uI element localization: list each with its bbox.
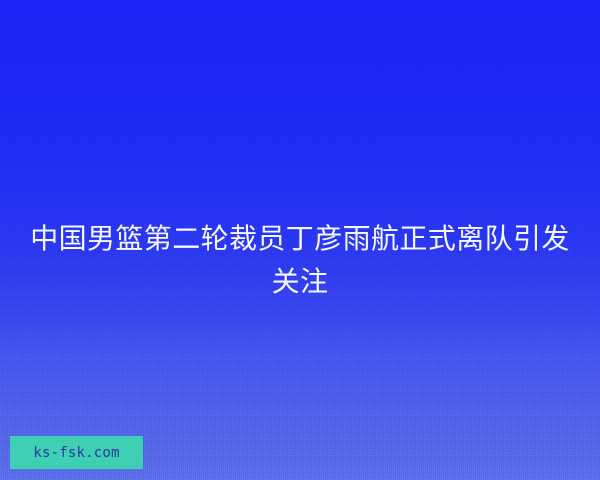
site-watermark-label: ks-fsk.com — [33, 446, 119, 460]
site-watermark-badge: ks-fsk.com — [10, 436, 143, 469]
cover-headline: 中国男篮第二轮裁员丁彦雨航正式离队引发关注 — [0, 217, 600, 303]
article-cover-image: 中国男篮第二轮裁员丁彦雨航正式离队引发关注 ks-fsk.com — [0, 0, 600, 480]
